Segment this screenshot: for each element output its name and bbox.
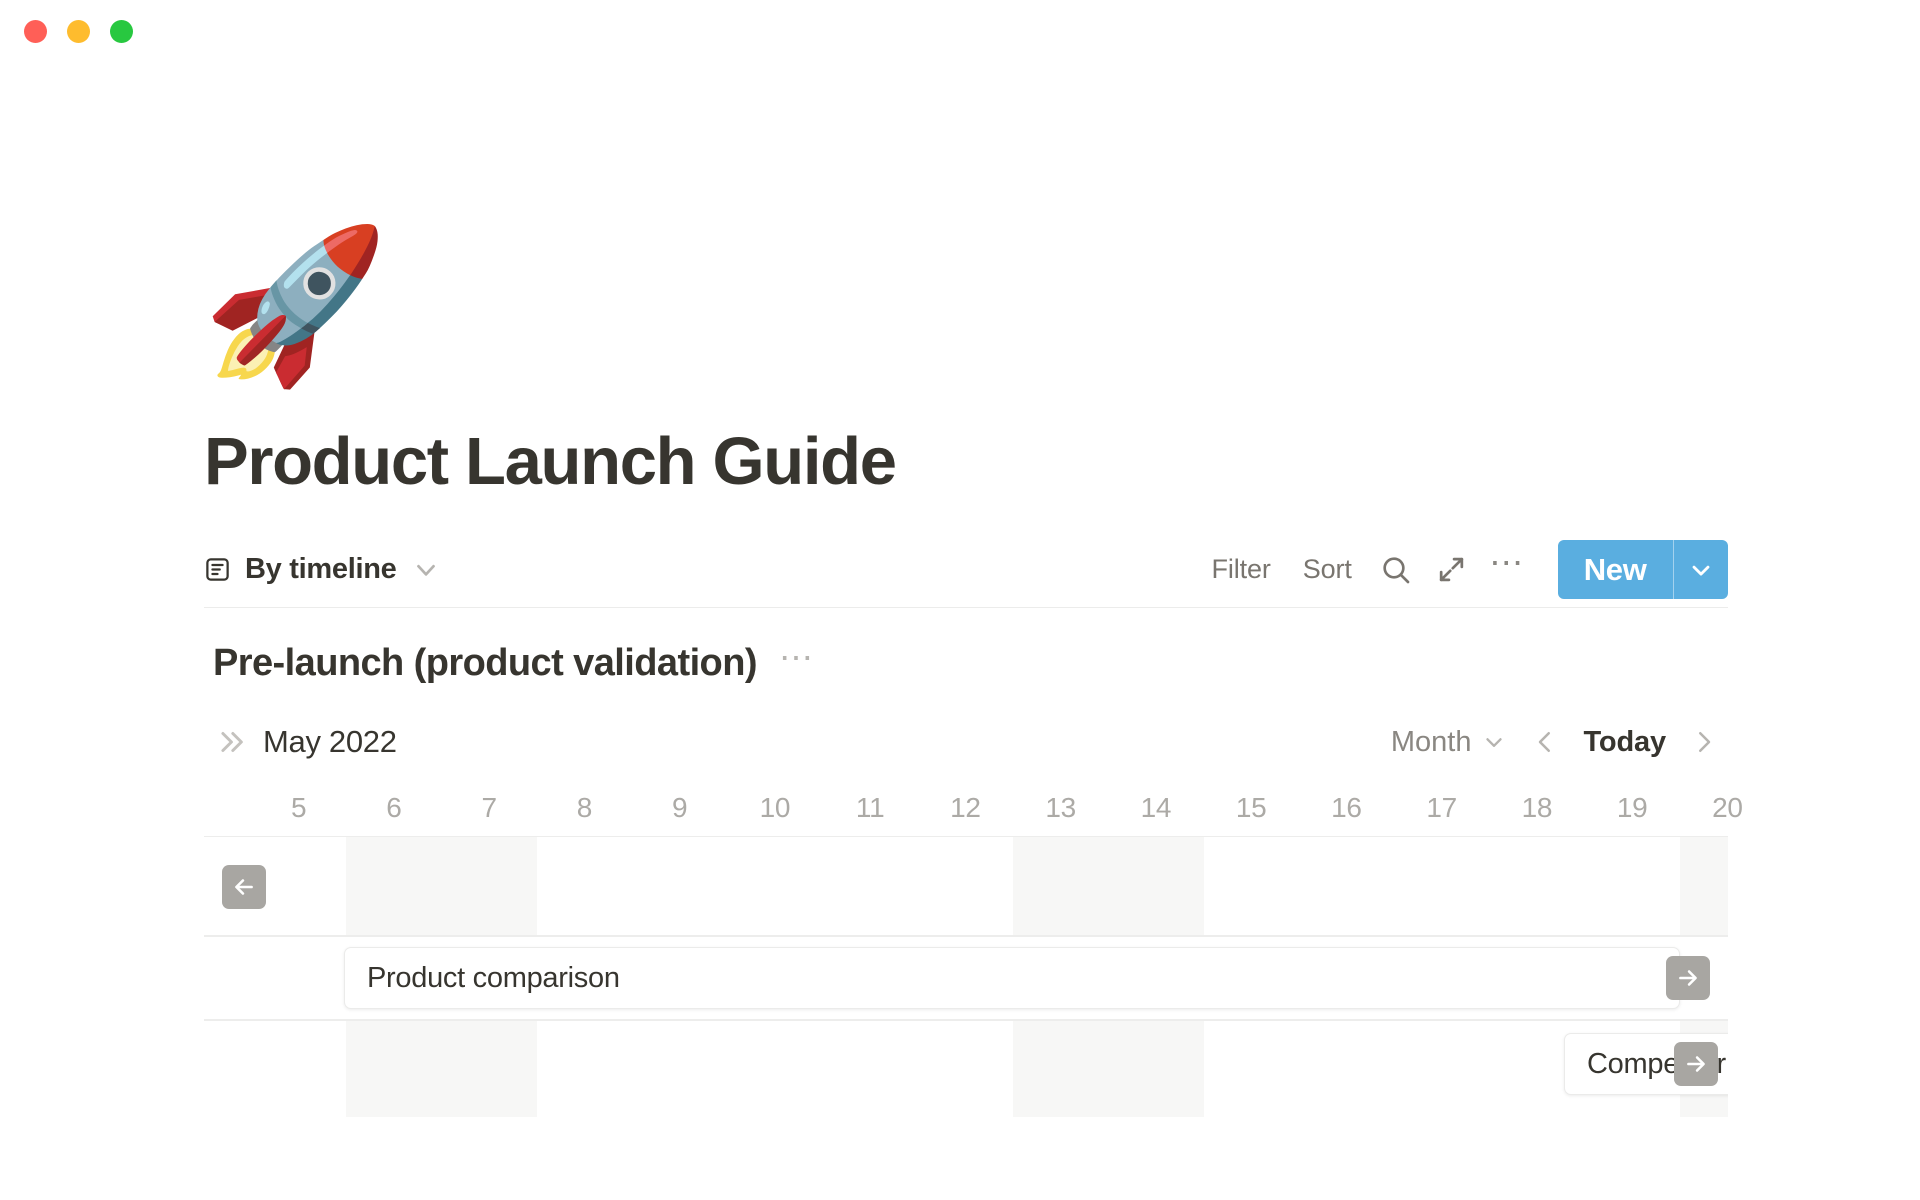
timeline-nav: May 2022 Month Today	[204, 711, 1728, 773]
timeline-prev-button[interactable]	[1521, 718, 1569, 766]
section-ellipsis-icon[interactable]: ⋯	[779, 650, 816, 677]
timeline-today-button[interactable]: Today	[1569, 720, 1680, 765]
timeline-day-label: 10	[727, 792, 822, 824]
view-name-label: By timeline	[245, 553, 397, 586]
view-toolbar-actions: Filter Sort ⋯	[1196, 540, 1729, 599]
chevrons-right-icon[interactable]	[213, 725, 247, 759]
task-nudge-right-button[interactable]	[1666, 956, 1710, 1000]
timeline-day-label: 7	[442, 792, 537, 824]
maximize-window-button[interactable]	[110, 20, 133, 43]
search-icon[interactable]	[1368, 546, 1424, 594]
page-icon-rocket[interactable]: 🚀	[202, 230, 1728, 390]
timeline-nav-right: Month Today	[1377, 718, 1728, 766]
timeline-day-label: 11	[823, 792, 918, 824]
content-wrapper: 🚀 Product Launch Guide By timeline	[204, 230, 1728, 1117]
page-body: 🚀 Product Launch Guide By timeline	[0, 62, 1920, 1200]
timeline-day-label: 18	[1489, 792, 1584, 824]
view-selector[interactable]: By timeline	[204, 553, 441, 586]
minimize-window-button[interactable]	[67, 20, 90, 43]
timeline-day-label: 6	[346, 792, 441, 824]
task-nudge-right-button[interactable]	[1674, 1042, 1718, 1086]
grid-row-divider	[204, 1019, 1728, 1021]
timeline-day-label: 13	[1013, 792, 1108, 824]
timeline-scale-label: Month	[1391, 726, 1472, 759]
timeline-day-label: 20	[1680, 792, 1775, 824]
arrow-right-icon	[1683, 1051, 1709, 1077]
task-card-label: Product comparison	[367, 962, 620, 995]
filter-button[interactable]: Filter	[1196, 546, 1287, 593]
timeline-day-label: 5	[251, 792, 346, 824]
section-title[interactable]: Pre-launch (product validation)	[213, 642, 757, 685]
timeline-month-label: May 2022	[263, 724, 397, 760]
chevron-down-icon	[1481, 729, 1507, 755]
timeline-grid-body: Product comparison Competitor	[204, 837, 1728, 1117]
timeline-nav-left: May 2022	[213, 724, 397, 760]
window-title-bar	[0, 0, 1920, 62]
chevron-down-icon[interactable]	[411, 555, 441, 585]
timeline-day-label: 14	[1108, 792, 1203, 824]
timeline-day-header: 567891011121314151617181920	[204, 779, 1728, 837]
task-nudge-left-button[interactable]	[222, 865, 266, 909]
view-toolbar: By timeline Filter Sort	[204, 532, 1728, 608]
page-title[interactable]: Product Launch Guide	[204, 426, 1728, 498]
timeline-task-card[interactable]: Product comparison	[344, 947, 1680, 1009]
new-button[interactable]: New	[1558, 540, 1673, 599]
timeline-day-label: 8	[537, 792, 632, 824]
timeline-day-label: 19	[1585, 792, 1680, 824]
close-window-button[interactable]	[24, 20, 47, 43]
timeline-day-label: 9	[632, 792, 727, 824]
expand-icon[interactable]	[1424, 546, 1480, 594]
new-button-chevron-down-icon[interactable]	[1674, 540, 1728, 599]
timeline-grid: 567891011121314151617181920	[204, 779, 1728, 1117]
timeline-next-button[interactable]	[1680, 718, 1728, 766]
timeline-day-label: 15	[1204, 792, 1299, 824]
ellipsis-icon[interactable]: ⋯	[1480, 546, 1536, 594]
timeline-scale-selector[interactable]: Month	[1377, 720, 1522, 765]
timeline-day-label: 17	[1394, 792, 1489, 824]
timeline-day-label: 12	[918, 792, 1013, 824]
sort-button[interactable]: Sort	[1287, 546, 1368, 593]
timeline-day-label: 16	[1299, 792, 1394, 824]
arrow-left-icon	[231, 874, 257, 900]
section-header: Pre-launch (product validation) ⋯	[204, 642, 1728, 685]
arrow-right-icon	[1675, 965, 1701, 991]
list-view-icon	[204, 556, 231, 583]
traffic-lights	[24, 20, 133, 43]
new-button-group: New	[1558, 540, 1728, 599]
